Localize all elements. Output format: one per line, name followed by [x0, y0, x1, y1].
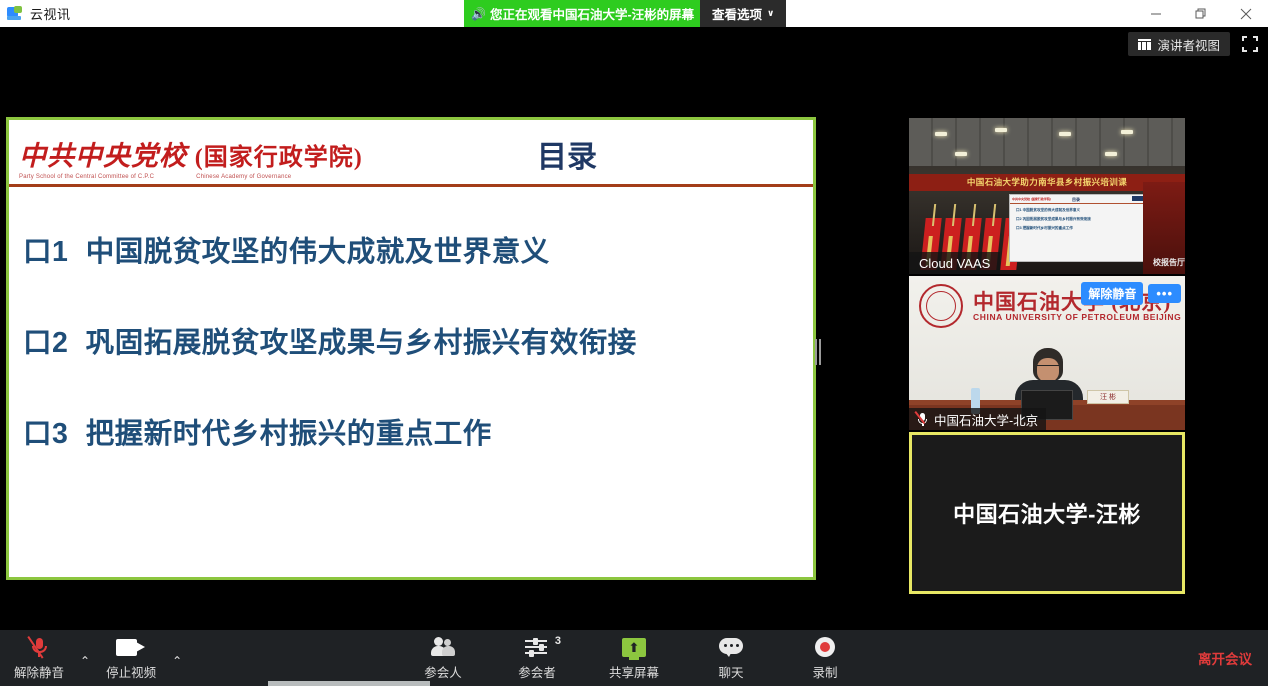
unmute-button[interactable]: 解除静音: [1081, 282, 1143, 305]
view-options-label: 查看选项: [712, 4, 762, 23]
toc-item-number: 口1: [23, 236, 68, 268]
slide-org-cn: 中共中央党校: [19, 141, 187, 171]
toc-item-text: 巩固拓展脱贫攻坚成果与乡村振兴有效衔接: [86, 327, 637, 359]
meeting-toolbar: 解除静音 ⌃ 停止视频 ⌃ 参会人: [0, 630, 1268, 686]
toc-item-number: 口2: [23, 327, 68, 359]
record-toolbar-button[interactable]: 录制: [797, 632, 853, 684]
university-seal-icon: [919, 284, 963, 328]
video-tile-cupb[interactable]: 中国石油大学 (北京) CHINA UNIVERSITY OF PETROLEU…: [909, 276, 1185, 430]
presenter-face: [1037, 358, 1059, 382]
restore-button[interactable]: [1178, 0, 1223, 27]
app-title: 云视讯: [30, 4, 71, 23]
room-slide-line: 口2 巩固拓展脱贫攻坚成果与乡村振兴有效衔接: [1016, 217, 1148, 222]
presentation-slide: 中共中央党校 (国家行政学院) Party School of the Cent…: [9, 120, 813, 577]
more-options-button[interactable]: •••: [1148, 284, 1181, 303]
manage-participants-toolbar-button[interactable]: 3 参会者: [509, 632, 565, 684]
speaker-view-button[interactable]: 演讲者视图: [1128, 32, 1230, 56]
toc-item-text: 把握新时代乡村振兴的重点工作: [86, 418, 492, 450]
video-tile-label: 中国石油大学-汪彬: [912, 435, 1182, 591]
participants-icon: [431, 636, 455, 658]
zoom-meeting-window: 云视讯 🔊 您正在观看中国石油大学-汪彬的屏幕 查看选项 ∨: [0, 0, 1268, 686]
participants-toolbar-button[interactable]: 参会人: [415, 632, 471, 684]
shared-screen-viewer[interactable]: 中共中央党校 (国家行政学院) Party School of the Cent…: [6, 117, 816, 580]
slide-title: 目录: [537, 132, 597, 176]
room-projection-screen: 中共中央党校 (国家行政学院) 目录 口1 中国脱贫攻坚的伟大成就及世界意义 口…: [1009, 194, 1149, 262]
toolbar-center-group: 参会人 3 参会者 ⬆ 共享屏幕: [0, 632, 1268, 684]
room-slide-title: 目录: [1072, 197, 1080, 203]
toc-item: 口3 把握新时代乡村振兴的重点工作: [23, 411, 813, 452]
manage-participants-icon: 3: [525, 636, 549, 658]
toc-item: 口1 中国脱贫攻坚的伟大成就及世界意义: [23, 229, 813, 270]
minimize-button[interactable]: [1133, 0, 1178, 27]
slide-org-paren: (国家行政学院): [195, 145, 363, 171]
conference-room-video: 中国石油大学助力南华县乡村振兴培训课 中共中央党校 (国家行政学院) 目录 口1…: [909, 118, 1185, 274]
screen-share-banner: 🔊 您正在观看中国石油大学-汪彬的屏幕: [464, 0, 703, 27]
chat-toolbar-button[interactable]: 聊天: [703, 632, 759, 684]
video-tile-active-speaker[interactable]: 中国石油大学-汪彬: [909, 432, 1185, 594]
panel-resize-handle[interactable]: [813, 338, 822, 366]
window-controls: [1133, 0, 1268, 27]
room-slide-org: 中共中央党校 (国家行政学院): [1012, 197, 1051, 201]
record-toolbar-label: 录制: [812, 662, 837, 681]
grid-layout-icon: [1138, 39, 1151, 50]
room-slide-line: 口1 中国脱贫攻坚的伟大成就及世界意义: [1016, 208, 1148, 213]
share-screen-toolbar-label: 共享屏幕: [609, 662, 659, 681]
participants-toolbar-label: 参会人: [424, 662, 462, 681]
toc-item-number: 口3: [23, 418, 68, 450]
manage-participants-toolbar-label: 参会者: [518, 662, 556, 681]
speaker-view-label: 演讲者视图: [1157, 35, 1220, 54]
university-name-en: CHINA UNIVERSITY OF PETROLEUM BEIJING: [973, 312, 1181, 322]
record-icon: [815, 636, 835, 658]
chevron-down-icon: ∨: [767, 8, 774, 19]
slide-org-en-1: Party School of the Central Committee of…: [19, 174, 154, 180]
speaker-icon: 🔊: [471, 8, 486, 20]
slide-toc: 口1 中国脱贫攻坚的伟大成就及世界意义 口2 巩固拓展脱贫攻坚成果与乡村振兴有效…: [9, 187, 813, 452]
app-identity: 云视讯: [0, 4, 71, 23]
video-tile-label: 中国石油大学-北京: [934, 410, 1038, 429]
party-school-logo: 中共中央党校 (国家行政学院) Party School of the Cent…: [19, 134, 363, 180]
room-podium-text: 校报告厅: [1153, 257, 1185, 268]
fullscreen-icon[interactable]: [1242, 36, 1258, 52]
share-screen-toolbar-button[interactable]: ⬆ 共享屏幕: [603, 632, 665, 684]
close-button[interactable]: [1223, 0, 1268, 27]
slide-org-en-2: Chinese Academy of Governance: [196, 174, 291, 180]
slide-header: 中共中央党校 (国家行政学院) Party School of the Cent…: [9, 120, 813, 187]
name-plate: 汪 彬: [1087, 390, 1129, 404]
tile-hover-actions: 解除静音 •••: [1081, 282, 1181, 305]
app-logo-icon: [7, 6, 24, 21]
video-tile-label: Cloud VAAS: [909, 252, 1000, 274]
ceiling: [909, 118, 1185, 166]
video-tile-cloud-vaas[interactable]: 中国石油大学助力南华县乡村振兴培训课 中共中央党校 (国家行政学院) 目录 口1…: [909, 118, 1185, 274]
video-tile-label-row: 中国石油大学-北京: [909, 408, 1046, 430]
toc-item: 口2 巩固拓展脱贫攻坚成果与乡村振兴有效衔接: [23, 320, 813, 361]
participants-count-badge: 3: [555, 635, 561, 647]
screen-share-banner-text: 您正在观看中国石油大学-汪彬的屏幕: [490, 4, 694, 23]
glasses-icon: [1037, 365, 1059, 370]
bottom-scrollbar[interactable]: [268, 681, 430, 686]
share-screen-icon: ⬆: [622, 636, 646, 658]
title-bar: 云视讯 🔊 您正在观看中国石油大学-汪彬的屏幕 查看选项 ∨: [0, 0, 1268, 27]
room-slide-line: 口3 把握新时代乡村振兴的重点工作: [1016, 226, 1148, 231]
chat-icon: [719, 636, 743, 658]
name-plate-text: 汪 彬: [1088, 391, 1128, 404]
mic-muted-icon: [917, 412, 928, 427]
chat-toolbar-label: 聊天: [718, 662, 743, 681]
view-controls: 演讲者视图: [1128, 32, 1258, 56]
meeting-canvas-top: [0, 27, 1268, 117]
leave-meeting-button[interactable]: 离开会议: [1198, 648, 1252, 668]
view-options-button[interactable]: 查看选项 ∨: [700, 0, 786, 27]
toc-item-text: 中国脱贫攻坚的伟大成就及世界意义: [86, 236, 550, 268]
